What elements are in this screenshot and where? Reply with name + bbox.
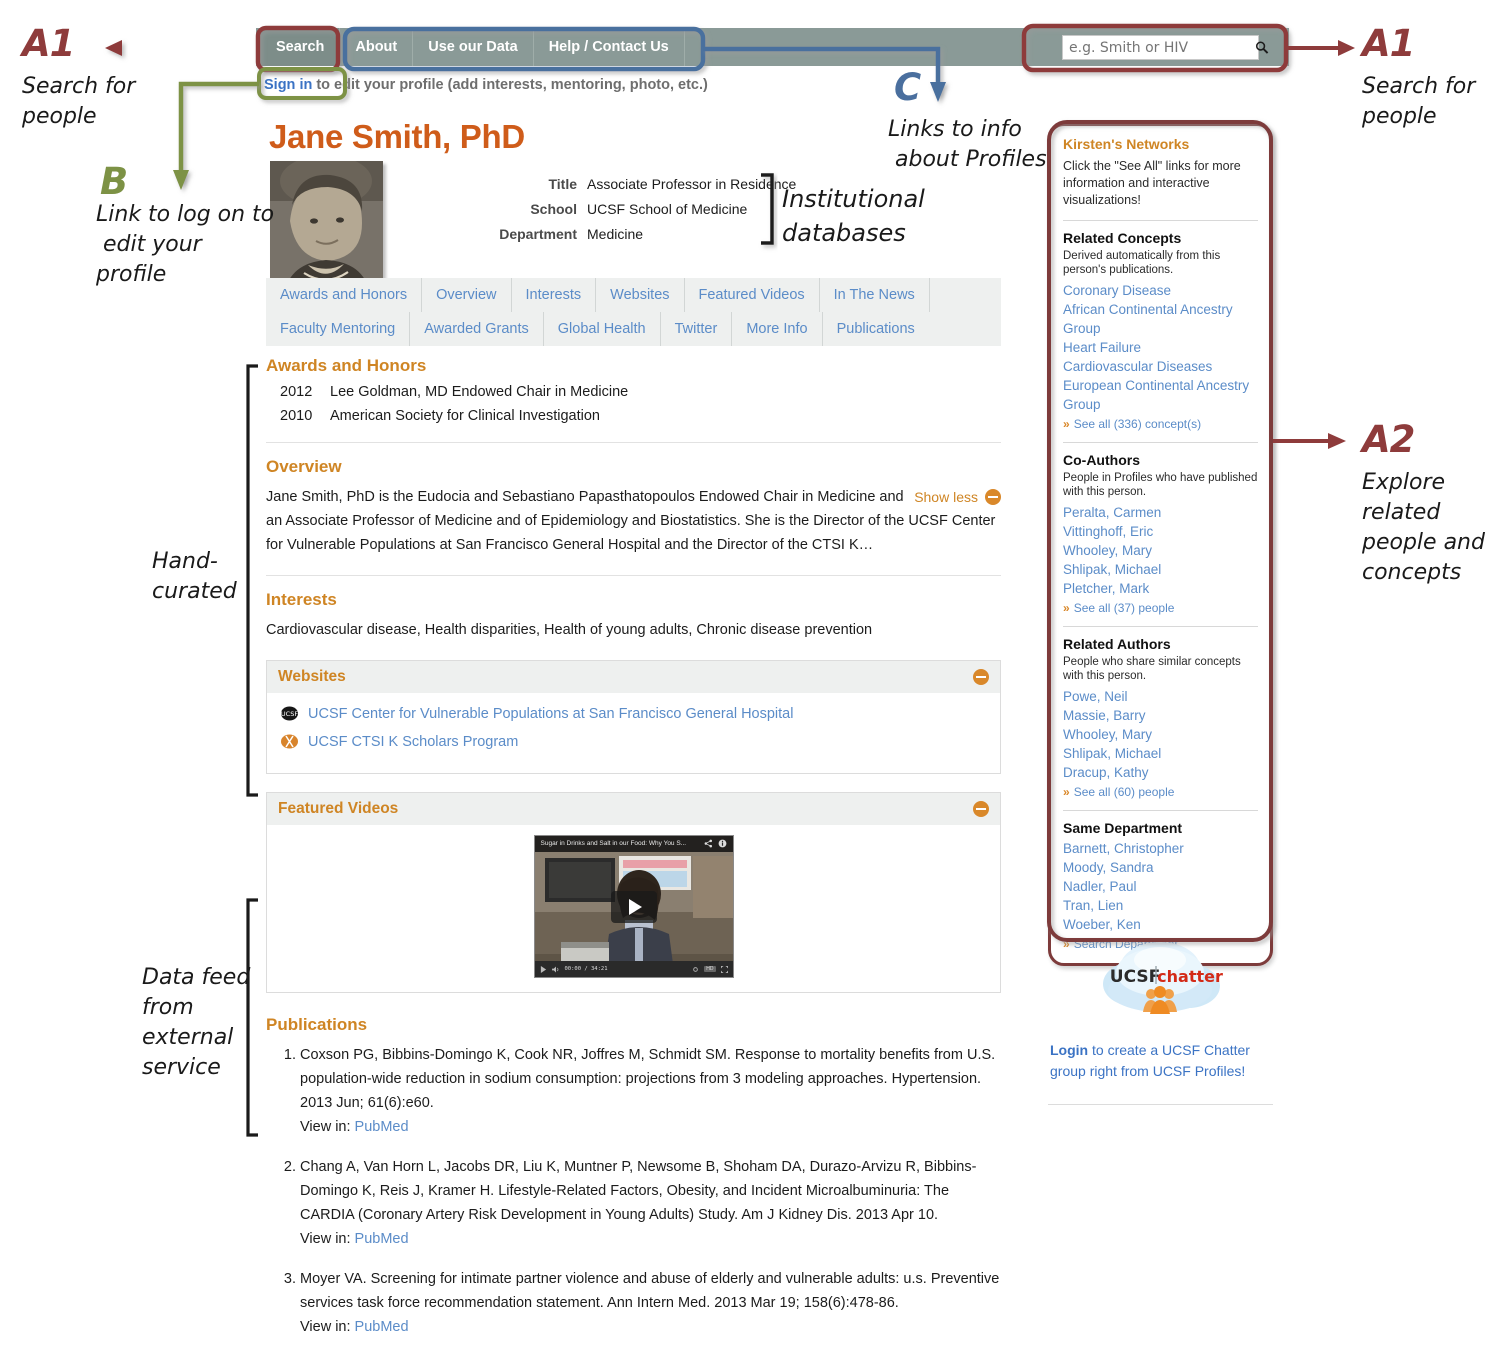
section-heading: Same Department (1063, 820, 1258, 836)
list-item: Moyer VA. Screening for intimate partner… (300, 1267, 1001, 1339)
tab-label: Websites (610, 287, 669, 303)
tab-label: Awarded Grants (424, 321, 529, 337)
section-heading: Co-Authors (1063, 452, 1258, 468)
award-name: American Society for Clinical Investigat… (330, 408, 600, 424)
nav-item-help-contact-us[interactable]: Help / Contact Us (534, 28, 685, 66)
ucsf-dark-favicon-icon: UCSF (281, 705, 298, 722)
networks-panel: Kirsten's Networks Click the "See All" l… (1048, 123, 1273, 966)
awards-section: Awards and Honors 2012 Lee Goldman, MD E… (266, 356, 1001, 424)
person-link[interactable]: Whooley, Mary (1063, 541, 1258, 560)
fact-row: Title Associate Professor in Residence (490, 176, 796, 192)
section-sub: People who share similar concepts with t… (1063, 655, 1258, 683)
nav-item-label: Search (276, 39, 324, 55)
concept-link[interactable]: European Continental Ancestry Group (1063, 376, 1258, 414)
tab-awarded-grants[interactable]: Awarded Grants (410, 312, 544, 346)
annotation-text-institutional-databases: Institutionaldatabases (782, 182, 982, 250)
divider (1063, 442, 1258, 443)
view-in-row: View in: PubMed (300, 1227, 1001, 1251)
fact-value: Associate Professor in Residence (587, 176, 796, 192)
see-all-concepts-link[interactable]: » See all (336) concept(s) (1063, 417, 1258, 431)
tab-label: Awards and Honors (280, 287, 407, 303)
annotation-label-c: C (894, 66, 920, 109)
award-year: 2012 (266, 384, 330, 400)
chatter-caption: Login to create a UCSF Chatter group rig… (1048, 1040, 1273, 1082)
tab-label: Faculty Mentoring (280, 321, 395, 337)
tab-faculty-mentoring[interactable]: Faculty Mentoring (266, 312, 410, 346)
publications-section: Publications Coxson PG, Bibbins-Domingo … (266, 1015, 1001, 1339)
overview-section: Overview Show less Jane Smith, PhD is th… (266, 457, 1001, 557)
quality-badge[interactable]: HD (704, 966, 715, 972)
person-link[interactable]: Tran, Lien (1063, 896, 1258, 915)
awards-heading: Awards and Honors (266, 356, 1001, 376)
tab-awards-and-honors[interactable]: Awards and Honors (266, 278, 422, 312)
section-heading: Related Concepts (1063, 230, 1258, 246)
website-link[interactable]: UCSF Center for Vulnerable Populations a… (308, 706, 793, 722)
pubmed-link[interactable]: PubMed (355, 1231, 409, 1247)
tab-in-the-news[interactable]: In The News (820, 278, 930, 312)
sign-in-link[interactable]: Sign in (264, 77, 312, 93)
play-icon[interactable] (540, 966, 547, 973)
person-link[interactable]: Barnett, Christopher (1063, 839, 1258, 858)
divider (266, 442, 1001, 443)
interests-heading: Interests (266, 590, 1001, 610)
websites-panel-header: Websites (267, 661, 1000, 693)
chevron-double-right-icon: » (1063, 601, 1070, 615)
section-tabs: Awards and Honors Overview Interests Web… (266, 278, 1001, 346)
fact-key: Title (490, 176, 587, 192)
ucsf-chatter-widget: UCSF chatter Login to create a UCSF Chat… (1048, 938, 1273, 1105)
divider (1063, 220, 1258, 221)
tab-label: Publications (837, 321, 915, 337)
video-time: 00:00 / 34:21 (565, 966, 608, 972)
networks-section-co-authors: Co-Authors People in Profiles who have p… (1063, 452, 1258, 615)
svg-text:chatter: chatter (1157, 967, 1223, 986)
tab-row-1: Awards and Honors Overview Interests Web… (266, 278, 1001, 312)
svg-text:UCSF: UCSF (1110, 967, 1160, 987)
concept-link[interactable]: African Continental Ancestry Group (1063, 300, 1258, 338)
tab-label: Featured Videos (699, 287, 805, 303)
concept-link[interactable]: Heart Failure (1063, 338, 1258, 357)
see-all-related-authors-link[interactable]: » See all (60) people (1063, 785, 1258, 799)
tab-label: Overview (436, 287, 496, 303)
pubmed-link[interactable]: PubMed (355, 1119, 409, 1135)
fullscreen-icon[interactable] (721, 966, 728, 973)
networks-section-same-department: Same Department Barnett, Christopher Moo… (1063, 820, 1258, 951)
annotation-text-a2: Explorerelatedpeople andconcepts (1362, 468, 1500, 588)
video-player[interactable]: Sugar in Drinks and Salt in our Food: Wh… (534, 835, 734, 978)
fact-value: UCSF School of Medicine (587, 201, 747, 217)
view-in-label: View in: (300, 1119, 351, 1135)
view-in-label: View in: (300, 1231, 351, 1247)
list-item[interactable]: UCSF UCSF Center for Vulnerable Populati… (281, 705, 989, 722)
publications-heading: Publications (266, 1015, 1001, 1035)
publication-citation: Chang A, Van Horn L, Jacobs DR, Liu K, M… (300, 1159, 976, 1223)
share-icon[interactable] (704, 839, 713, 848)
volume-icon[interactable] (552, 966, 560, 973)
divider (1048, 1104, 1273, 1105)
person-link[interactable]: Shlipak, Michael (1063, 560, 1258, 579)
list-item[interactable]: UCSF CTSI K Scholars Program (281, 733, 989, 750)
websites-heading: Websites (278, 668, 346, 686)
view-in-label: View in: (300, 1319, 351, 1335)
featured-videos-panel: Featured Videos (266, 792, 1001, 993)
website-link[interactable]: UCSF CTSI K Scholars Program (308, 734, 518, 750)
person-link[interactable]: Nadler, Paul (1063, 877, 1258, 896)
overview-heading: Overview (266, 457, 1001, 477)
see-all-coauthors-link[interactable]: » See all (37) people (1063, 601, 1258, 615)
tab-more-info[interactable]: More Info (732, 312, 822, 346)
play-icon[interactable] (611, 891, 657, 923)
person-link[interactable]: Moody, Sandra (1063, 858, 1258, 877)
tab-label: In The News (834, 287, 915, 303)
show-less-toggle[interactable]: Show less (914, 485, 1001, 509)
fact-row: Department Medicine (490, 226, 796, 242)
publications-list: Coxson PG, Bibbins-Domingo K, Cook NR, J… (266, 1043, 1001, 1339)
nav-item-label: About (355, 39, 397, 55)
view-in-row: View in: PubMed (300, 1115, 1001, 1139)
fact-row: School UCSF School of Medicine (490, 201, 796, 217)
tab-global-health[interactable]: Global Health (544, 312, 661, 346)
minus-circle-icon[interactable] (973, 669, 989, 685)
top-navigation-bar: Search About Use our Data Help / Contact… (256, 28, 1289, 66)
tab-interests[interactable]: Interests (512, 278, 597, 312)
video-controls[interactable]: 00:00 / 34:21 HD (535, 961, 733, 977)
award-row: 2010 American Society for Clinical Inves… (266, 408, 1001, 424)
annotation-label-a1-right: A1 (1362, 22, 1414, 65)
publication-citation: Coxson PG, Bibbins-Domingo K, Cook NR, J… (300, 1047, 995, 1111)
networks-title: Kirsten's Networks (1063, 136, 1258, 152)
institutional-facts: Title Associate Professor in Residence S… (490, 176, 796, 251)
section-heading: Related Authors (1063, 636, 1258, 652)
featured-videos-heading: Featured Videos (278, 800, 398, 818)
person-link[interactable]: Shlipak, Michael (1063, 744, 1258, 763)
interests-text: Cardiovascular disease, Health dispariti… (266, 618, 1001, 642)
tab-label: Global Health (558, 321, 646, 337)
networks-intro: Click the "See All" links for more infor… (1063, 158, 1258, 209)
nav-item-use-our-data[interactable]: Use our Data (413, 28, 533, 66)
person-link[interactable]: Powe, Neil (1063, 687, 1258, 706)
avatar (270, 161, 383, 294)
view-in-row: View in: PubMed (300, 1315, 1001, 1339)
person-link[interactable]: Vittinghoff, Eric (1063, 522, 1258, 541)
tab-websites[interactable]: Websites (596, 278, 684, 312)
websites-panel: Websites UCSF UCSF Center for Vulnerable… (266, 660, 1001, 774)
chevron-double-right-icon: » (1063, 417, 1070, 431)
section-sub: People in Profiles who have published wi… (1063, 471, 1258, 499)
svg-text:UCSF: UCSF (281, 710, 298, 718)
annotation-text-c: Links to info about Profiles (888, 115, 1078, 175)
concept-link[interactable]: Cardiovascular Diseases (1063, 357, 1258, 376)
signin-text: to edit your profile (add interests, men… (316, 77, 708, 93)
tab-featured-videos[interactable]: Featured Videos (685, 278, 820, 312)
award-year: 2010 (266, 408, 330, 424)
person-link[interactable]: Pletcher, Mark (1063, 579, 1258, 598)
arrow-b (181, 84, 259, 182)
networks-section-related-concepts: Related Concepts Derived automatically f… (1063, 230, 1258, 431)
networks-section-related-authors: Related Authors People who share similar… (1063, 636, 1258, 799)
divider (266, 575, 1001, 576)
tab-label: Twitter (675, 321, 718, 337)
annotation-text-hand-curated: Hand-curated (152, 547, 262, 607)
overview-text: Jane Smith, PhD is the Eudocia and Sebas… (266, 489, 995, 553)
see-all-label: See all (37) people (1074, 601, 1175, 615)
person-link[interactable]: Dracup, Kathy (1063, 763, 1258, 782)
tab-publications[interactable]: Publications (823, 312, 929, 346)
person-link[interactable]: Massie, Barry (1063, 706, 1258, 725)
chevron-double-right-icon: » (1063, 785, 1070, 799)
right-sidebar: Kirsten's Networks Click the "See All" l… (1048, 123, 1273, 966)
section-sub: Derived automatically from this person's… (1063, 249, 1258, 277)
annotation-label-a2: A2 (1362, 418, 1414, 461)
websites-panel-body: UCSF UCSF Center for Vulnerable Populati… (267, 693, 1000, 773)
nav-item-label: Help / Contact Us (549, 39, 669, 55)
signin-strip: Sign in to edit your profile (add intere… (264, 74, 764, 96)
annotation-label-b: B (100, 160, 127, 203)
tab-overview[interactable]: Overview (422, 278, 511, 312)
person-link[interactable]: Whooley, Mary (1063, 725, 1258, 744)
search-box[interactable] (1062, 35, 1259, 60)
featured-videos-panel-body: Sugar in Drinks and Salt in our Food: Wh… (267, 825, 1000, 992)
show-less-label: Show less (914, 485, 978, 509)
minus-circle-icon[interactable] (973, 801, 989, 817)
fact-key: School (490, 201, 587, 217)
list-item: Chang A, Van Horn L, Jacobs DR, Liu K, M… (300, 1155, 1001, 1251)
gear-icon[interactable] (692, 966, 699, 973)
divider (1063, 626, 1258, 627)
fact-key: Department (490, 226, 587, 242)
tab-row-2: Faculty Mentoring Awarded Grants Global … (266, 312, 1001, 346)
fact-value: Medicine (587, 226, 643, 242)
annotation-text-data-feed: Data feedfromexternalservice (142, 963, 262, 1083)
concept-link[interactable]: Coronary Disease (1063, 281, 1258, 300)
nav-item-label: Use our Data (428, 39, 517, 55)
page-title: Jane Smith, PhD (269, 118, 525, 156)
minus-circle-icon[interactable] (985, 489, 1001, 505)
portrait-photo-icon (270, 161, 383, 294)
featured-videos-panel-header: Featured Videos (267, 793, 1000, 825)
tab-label: Interests (526, 287, 582, 303)
cloud-logo-icon: UCSF chatter (1093, 938, 1228, 1030)
annotation-text-b: Link to log on to edit your profile (96, 200, 276, 290)
list-item: Coxson PG, Bibbins-Domingo K, Cook NR, J… (300, 1043, 1001, 1139)
award-name: Lee Goldman, MD Endowed Chair in Medicin… (330, 384, 628, 400)
tab-twitter[interactable]: Twitter (661, 312, 733, 346)
chatter-login-link[interactable]: Login (1050, 1042, 1088, 1058)
publication-citation: Moyer VA. Screening for intimate partner… (300, 1271, 999, 1311)
search-button[interactable] (1249, 36, 1275, 59)
ucsf-orange-favicon-icon (281, 733, 298, 750)
pubmed-link[interactable]: PubMed (355, 1319, 409, 1335)
nav-items: Search About Use our Data Help / Contact… (261, 28, 685, 66)
info-icon[interactable] (718, 839, 727, 848)
chatter-logo[interactable]: UCSF chatter (1048, 938, 1273, 1030)
annotation-text-a1-left: Search forpeople (22, 72, 172, 132)
nav-item-about[interactable]: About (340, 28, 413, 66)
overview-text-block: Show less Jane Smith, PhD is the Eudocia… (266, 485, 1001, 557)
divider (1063, 810, 1258, 811)
interests-section: Interests Cardiovascular disease, Health… (266, 590, 1001, 642)
see-all-label: See all (60) people (1074, 785, 1175, 799)
search-input[interactable] (1063, 36, 1249, 59)
award-row: 2012 Lee Goldman, MD Endowed Chair in Me… (266, 384, 1001, 400)
nav-item-search[interactable]: Search (261, 28, 340, 66)
person-link[interactable]: Peralta, Carmen (1063, 503, 1258, 522)
tab-label: More Info (746, 321, 807, 337)
annotation-text-a1-right: Search forpeople (1362, 72, 1500, 132)
person-link[interactable]: Woeber, Ken (1063, 915, 1258, 934)
see-all-label: See all (336) concept(s) (1074, 417, 1201, 431)
profile-content: Awards and Honors 2012 Lee Goldman, MD E… (266, 356, 1001, 1355)
annotation-label-a1-left: A1 (22, 22, 74, 65)
search-icon (1255, 40, 1269, 55)
